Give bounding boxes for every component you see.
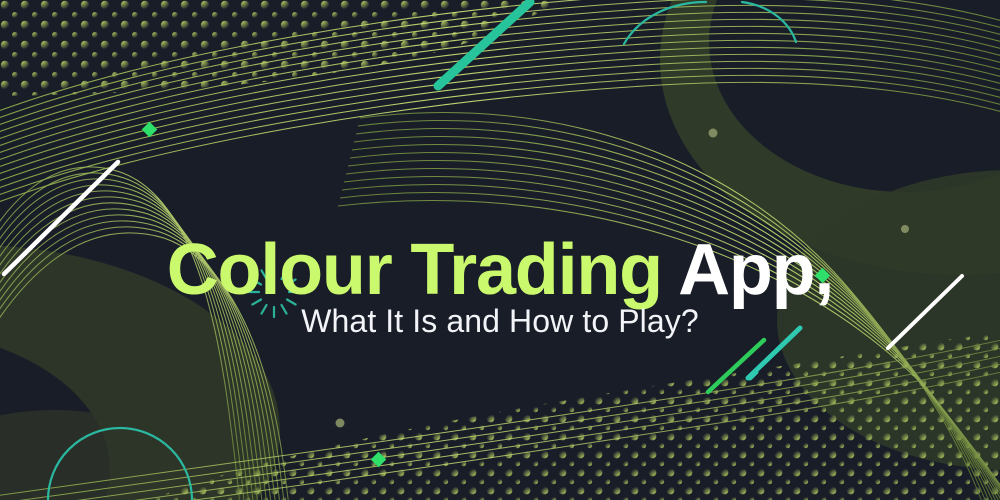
promo-banner: Colour Trading App, What It Is and How t… [0,0,1000,500]
page-subtitle: What It Is and How to Play? [301,305,699,339]
subtitle-row: What It Is and How to Play? [0,278,1000,365]
banner-content: Colour Trading App, What It Is and How t… [0,0,1000,500]
